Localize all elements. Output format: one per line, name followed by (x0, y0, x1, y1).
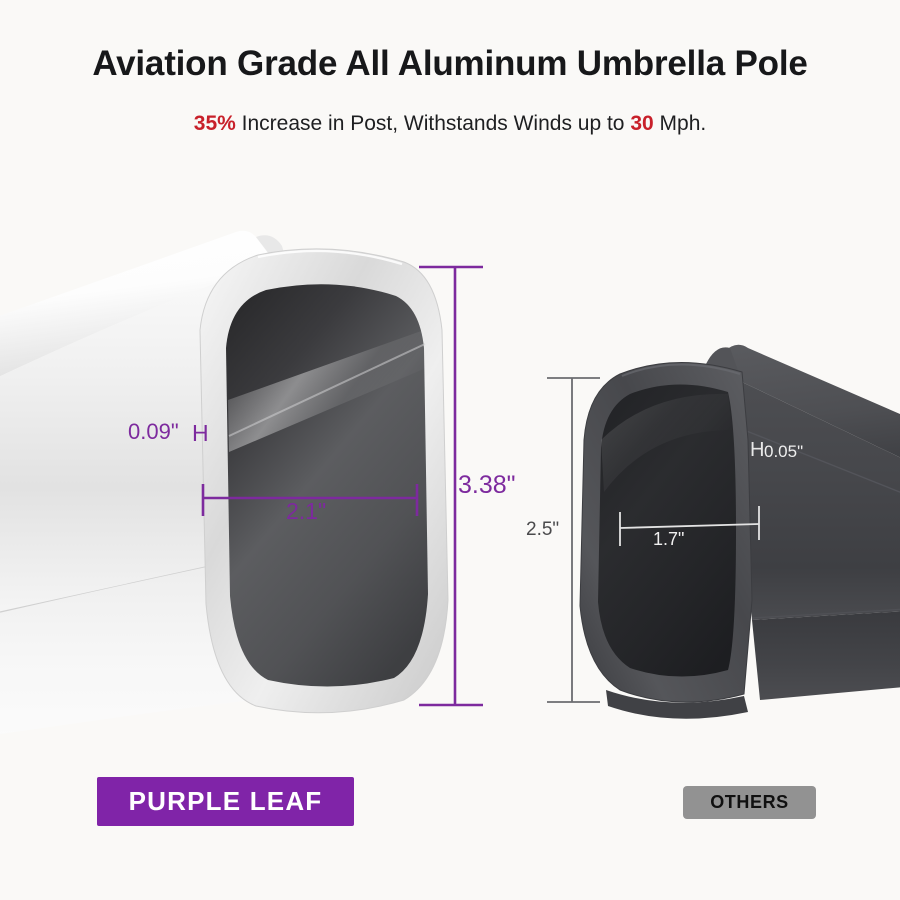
purple-leaf-pole (0, 231, 448, 740)
others-wall-thickness-label: 0.05" (764, 443, 803, 460)
badge-others: OTHERS (683, 786, 816, 819)
purple-leaf-wall-thickness-label: 0.09" (128, 421, 179, 443)
purple-leaf-inner-width-label: 2.1" (286, 500, 326, 523)
others-caliper-icon: H (750, 440, 764, 460)
others-outer-height-label: 2.5" (526, 520, 559, 539)
purple-leaf-caliper-icon: H (192, 422, 209, 445)
others-inner-width-label: 1.7" (653, 530, 684, 548)
badge-purple-leaf: PURPLE LEAF (97, 777, 354, 826)
infographic-canvas: Aviation Grade All Aluminum Umbrella Pol… (0, 0, 900, 900)
product-illustration: 0.09" H 2.1" 3.38" 2.5" 1.7" H 0.05" (0, 0, 900, 900)
others-pole (580, 345, 900, 719)
others-lower-face (752, 608, 900, 700)
purple-leaf-outer-height-label: 3.38" (458, 473, 516, 498)
